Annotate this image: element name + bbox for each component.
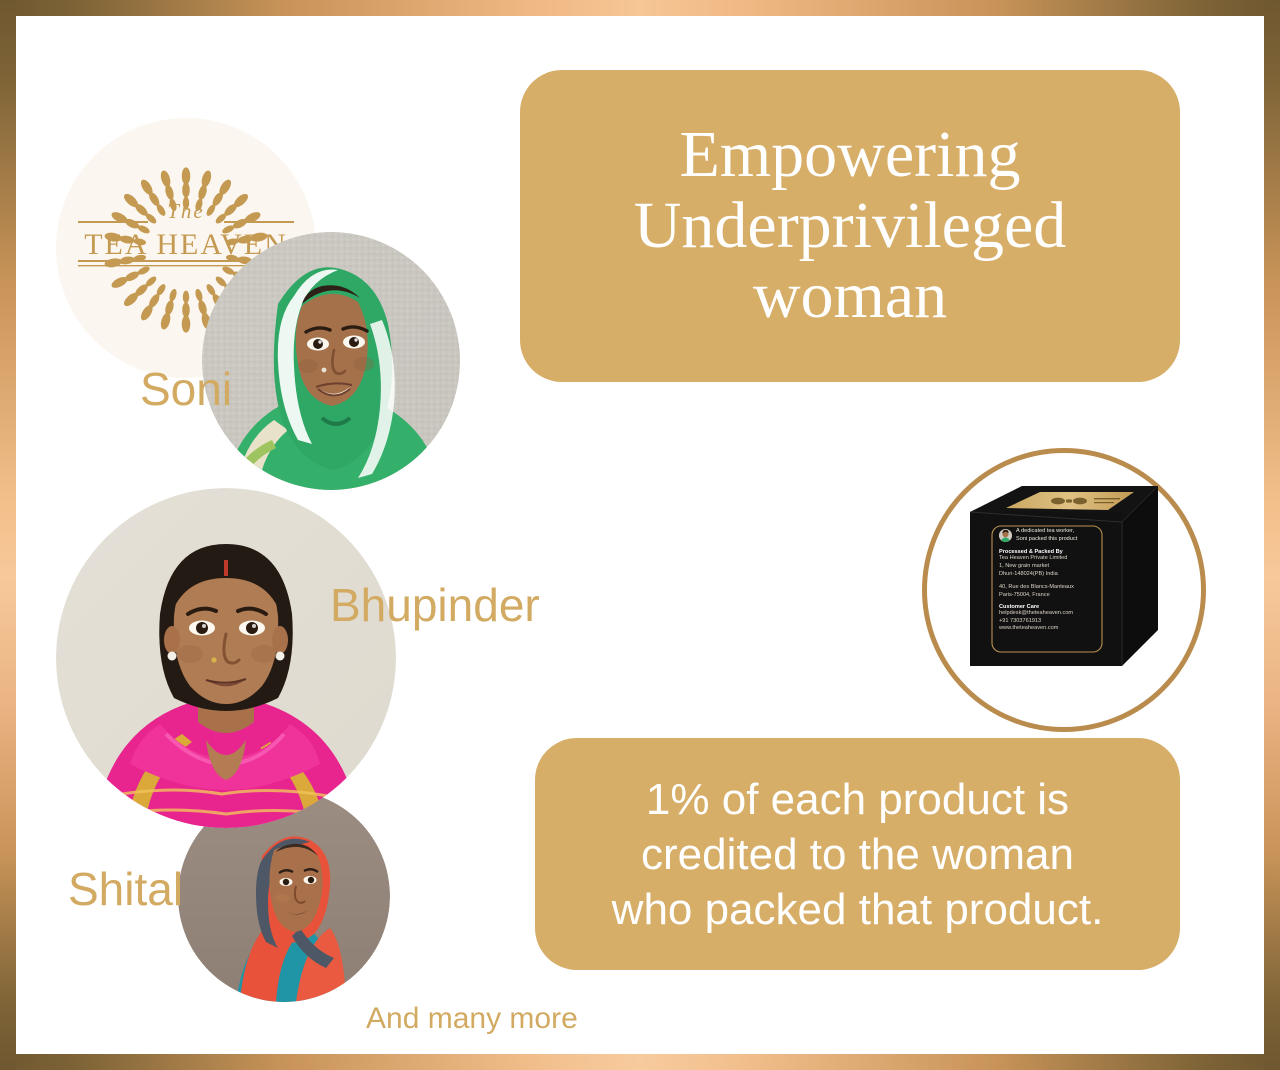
- caption-and-many-more: And many more: [366, 1002, 578, 1036]
- customer-care-email: helpdesk@theteaheaven.com: [999, 610, 1131, 618]
- portrait-soni: [202, 232, 460, 490]
- poster-canvas: The TEA HEAVEN: [0, 0, 1280, 1070]
- address-line-1: 1, New grain market: [999, 563, 1131, 571]
- address-line-4: Paris-75004, France: [999, 592, 1131, 600]
- company-name: Tea Heaven Private Limited: [999, 555, 1131, 563]
- headline-line-3: woman: [634, 261, 1067, 332]
- packer-note-text: A dedicated tea worker, Soni packed this…: [1016, 528, 1077, 544]
- caption-name-bhupinder: Bhupinder: [330, 578, 540, 632]
- frame-border-bottom: [0, 1054, 1280, 1070]
- promo-line-1: 1% of each product is: [612, 772, 1104, 827]
- address-line-3: 40, Rue des Blancs-Manteaux: [999, 584, 1131, 592]
- customer-care-website: www.theteaheaven.com: [999, 625, 1131, 633]
- svg-text:The: The: [167, 199, 205, 223]
- promo-line-2: credited to the woman: [612, 827, 1104, 882]
- caption-name-shital: Shital: [68, 862, 183, 916]
- customer-care-phone: +91 7303761913: [999, 618, 1131, 626]
- frame-border-top: [0, 0, 1280, 16]
- headline-line-2: Underprivileged: [634, 191, 1067, 262]
- packer-avatar-icon: [999, 529, 1012, 542]
- packer-note-row: A dedicated tea worker, Soni packed this…: [999, 528, 1131, 544]
- portrait-bhupinder: [56, 488, 396, 828]
- headline-text: Empowering Underprivileged woman: [608, 120, 1093, 332]
- promo-text: 1% of each product is credited to the wo…: [590, 772, 1126, 937]
- address-line-2: Dhuri-148024(PB) India: [999, 571, 1131, 579]
- promo-line-3: who packed that product.: [612, 882, 1104, 937]
- headline-banner: Empowering Underprivileged woman: [520, 70, 1180, 382]
- packer-note-line-1: A dedicated tea worker,: [1016, 528, 1077, 536]
- frame-border-right: [1264, 0, 1280, 1070]
- headline-line-1: Empowering: [634, 120, 1067, 191]
- promo-banner: 1% of each product is credited to the wo…: [535, 738, 1180, 970]
- packer-note-line-2: Soni packed this product: [1016, 536, 1077, 544]
- product-box-label: A dedicated tea worker, Soni packed this…: [999, 528, 1131, 656]
- caption-name-soni: Soni: [140, 362, 232, 416]
- frame-border-left: [0, 0, 16, 1070]
